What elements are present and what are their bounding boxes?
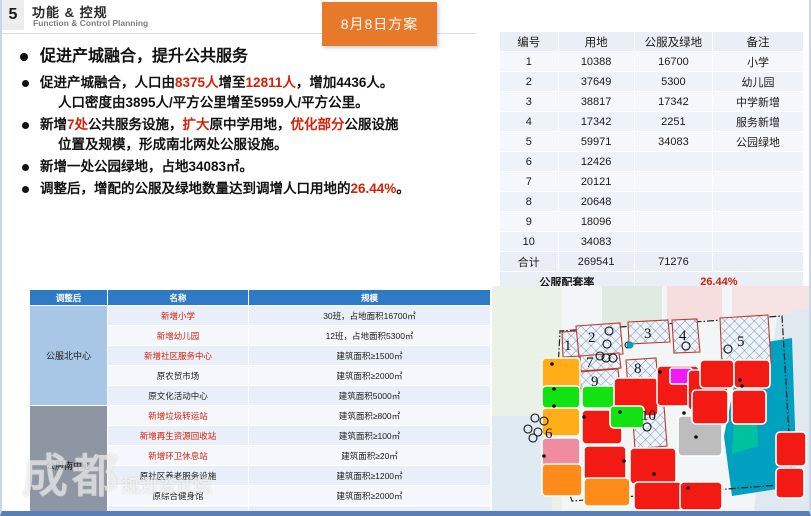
bullet-span-1: 位置及规模，形成南北两处公服设施。 [58,137,288,152]
table-row: 4173422251服务新增 [500,112,804,132]
table-row: 820648 [500,192,804,212]
bullet-line-7: 调整后，增配的公服及绿地数量达到调增人口用地的26.44%。 [16,180,486,197]
stat-cell-land: 17342 [558,112,634,132]
facility-spec-cell: 建筑面积≥100㎡ [249,426,491,446]
stat-cell-land: 20648 [558,192,634,212]
stat-cell-green [634,152,712,172]
facility-spec-cell: 建筑面积≥20㎡ [249,446,491,466]
bullet-span-3: 。 [396,181,410,196]
stat-header-row: 编号 用地 公服及绿地 备注 [500,32,804,52]
facility-spec-cell: 建筑面积≥800㎡ [249,406,491,426]
facility-spec-cell: 12班，占地面积5300㎡ [249,326,491,346]
stat-cell-note [713,152,804,172]
stat-cell-green [634,172,712,192]
bullet-line-1: 促进产城融合，提升公共服务 [16,46,486,67]
stat-header-note: 备注 [713,32,804,52]
table-row: 2376495300幼儿园 [500,72,804,92]
stat-total-note [713,252,804,272]
stat-table-head: 编号 用地 公服及绿地 备注 [500,32,804,52]
facility-table-head: 调整后 名称 规模 [30,290,491,306]
stat-cell-id: 5 [500,132,559,152]
table-row: 33881717342中学新增 [500,92,804,112]
facility-name-cell: 新增社区服务中心 [108,346,249,366]
facility-name-cell: 新增垃圾转运站 [108,406,249,426]
facility-spec-cell: 建筑面积≥1200㎡ [249,466,491,486]
facility-group-label: 公服南中心 [30,406,108,516]
facility-group-label: 公服北中心 [30,306,108,406]
table-row: 公服南中心新增垃圾转运站建筑面积≥800㎡ [30,406,491,426]
stat-cell-id: 7 [500,172,559,192]
facility-name-cell: 新增再生资源回收站 [108,426,249,446]
facility-name-cell: 新增幼儿园 [108,326,249,346]
bullet-span-1: 促进产城融合，人口由 [40,75,175,90]
stat-cell-green: 17342 [634,92,712,112]
bullet-span-3: 增至 [219,75,246,90]
bullet-dot-icon [22,122,29,129]
map-label-5: 5 [737,334,745,350]
stat-total-row: 合计 269541 71276 [500,252,804,272]
map-label-9: 9 [591,374,599,390]
stat-cell-green [634,232,712,252]
facility-table-body: 公服北中心新增小学30班，占地面积16700㎡新增幼儿园12班，占地面积5300… [30,306,491,516]
stat-cell-land: 20121 [558,172,634,192]
stat-cell-id: 2 [500,72,559,92]
facility-name-cell: 新增环卫休息站 [108,446,249,466]
bullet-text: 促进产城融合，提升公共服务 [40,48,248,65]
stat-cell-land: 18096 [558,212,634,232]
bullet-span-2: ㎡ [226,159,240,174]
slide-canvas: 5 功能 & 控规 Function & Control Planning 8月… [0,0,811,516]
bullet-span-3: 。 [240,159,254,174]
stat-cell-green [634,192,712,212]
bullet-dot-icon [20,53,28,61]
bullet-span-2: 7处 [67,117,88,132]
map-label-1: 1 [564,338,572,354]
stat-cell-land: 38817 [558,92,634,112]
table-row: 11038816700小学 [500,52,804,72]
stat-cell-land: 59971 [558,132,634,152]
stat-total-label: 合计 [500,252,559,272]
page-subtitle: Function & Control Planning [33,18,148,28]
bullet-line-3: 人口密度由3895人/平方公里增至5959人/平方公里。 [16,94,486,111]
stat-total-land: 269541 [558,252,634,272]
bullet-span-2: 8375人 [175,75,219,90]
map-label-8: 8 [634,361,642,377]
stat-cell-note: 公园绿地 [713,132,804,152]
bullet-span-6: 优化部分 [291,117,345,132]
bullet-dot-icon [22,164,29,171]
bullet-dot-icon [22,186,29,193]
stat-header-green: 公服及绿地 [634,32,712,52]
table-row: 918096 [500,212,804,232]
stat-cell-id: 4 [500,112,559,132]
stat-cell-note: 小学 [713,52,804,72]
stat-cell-land: 37649 [558,72,634,92]
bullet-span-1: 人口密度由3895人/平方公里增至5959人/平方公里。 [58,95,369,110]
planning-map: 1 2 3 4 5 6 7 8 9 10 [492,286,810,511]
bullet-span-1: 新增 [40,117,67,132]
stat-cell-note: 中学新增 [713,92,804,112]
stat-cell-land: 10388 [558,52,634,72]
bullet-line-2: 促进产城融合，人口由8375人增至12811人，增加4436人。 [16,74,486,91]
map-label-2: 2 [588,330,596,346]
facility-name-cell: 原社区养老服务设施 [108,466,249,486]
stat-table-body: 11038816700小学2376495300幼儿园33881717342中学新… [500,52,804,252]
table-row: 720121 [500,172,804,192]
facility-name-cell: 原综合健身馆 [108,486,249,506]
facility-spec-cell: 30班，占地面积16700㎡ [249,306,491,326]
scheme-date-badge: 8月8日方案 [322,2,437,46]
facility-name-cell: 原社区用房 [108,506,249,516]
stat-cell-green: 5300 [634,72,712,92]
stat-cell-note [713,192,804,212]
bullet-span-2: 26.44% [351,181,397,196]
facility-header-name: 名称 [108,290,249,306]
stat-cell-note [713,172,804,192]
table-row: 612426 [500,152,804,172]
stat-total-green: 71276 [634,252,712,272]
map-label-6: 6 [545,426,553,442]
stat-cell-id: 6 [500,152,559,172]
facility-header-spec: 规模 [249,290,491,306]
facility-spec-cell: 建筑面积≥800㎡ [249,506,491,516]
stat-cell-green: 16700 [634,52,712,72]
facility-spec-cell: 建筑面积≥1500㎡ [249,346,491,366]
map-label-10: 10 [641,408,656,424]
facility-spec-cell: 建筑面积5000㎡ [249,386,491,406]
stat-cell-green [634,212,712,232]
bullet-span-4: 12811人 [246,75,296,90]
bullet-dot-icon [22,80,29,87]
stat-cell-land: 34083 [558,232,634,252]
map-label-7: 7 [586,355,594,371]
facility-spec-cell: 建筑面积≥2000㎡ [249,486,491,506]
stat-cell-note: 幼儿园 [713,72,804,92]
map-label-3: 3 [644,326,652,342]
bullet-line-4: 新增7处公共服务设施，扩大原中学用地，优化部分公服设施 [16,116,486,133]
stat-cell-land: 12426 [558,152,634,172]
bullet-span-5: 原中学用地， [210,117,291,132]
bullet-span-1: 调整后，增配的公服及绿地数量达到调增人口用地的 [40,181,351,196]
stat-cell-note: 服务新增 [713,112,804,132]
stat-cell-green: 2251 [634,112,712,132]
stat-cell-note [713,232,804,252]
facility-spec-cell: 建筑面积≥2000㎡ [249,366,491,386]
land-statistics-table: 编号 用地 公服及绿地 备注 11038816700小学2376495300幼儿… [499,31,804,292]
bullet-line-6: 新增一处公园绿地，占地34083㎡。 [16,158,486,175]
table-row: 公服北中心新增小学30班，占地面积16700㎡ [30,306,491,326]
bullet-list: 促进产城融合，提升公共服务促进产城融合，人口由8375人增至12811人，增加4… [16,46,486,202]
bullet-span-3: 公共服务设施， [88,117,183,132]
facility-table: 调整后 名称 规模 公服北中心新增小学30班，占地面积16700㎡新增幼儿园12… [29,289,491,516]
facility-name-cell: 原文化活动中心 [108,386,249,406]
facility-header-row: 调整后 名称 规模 [30,290,491,306]
facility-header-group: 调整后 [30,290,108,306]
stat-cell-id: 3 [500,92,559,112]
bullet-span-1: 新增一处公园绿地，占地34083 [40,159,226,174]
stat-cell-id: 1 [500,52,559,72]
stat-cell-id: 8 [500,192,559,212]
table-row: 1034083 [500,232,804,252]
stat-cell-green: 34083 [634,132,712,152]
map-svg: 1 2 3 4 5 6 7 8 9 10 [492,286,810,511]
stat-header-land: 用地 [558,32,634,52]
stat-cell-note [713,212,804,232]
bullet-span-7: 公服设施 [345,117,399,132]
bullet-span-5: ，增加4436人。 [296,75,394,90]
stat-cell-id: 10 [500,232,559,252]
stat-header-id: 编号 [500,32,559,52]
table-row: 55997134083公园绿地 [500,132,804,152]
bullet-span-4: 扩大 [183,117,210,132]
facility-name-cell: 新增小学 [108,306,249,326]
section-number: 5 [2,0,24,30]
stat-cell-id: 9 [500,212,559,232]
facility-name-cell: 原农贸市场 [108,366,249,386]
bullet-line-5: 位置及规模，形成南北两处公服设施。 [16,136,486,153]
